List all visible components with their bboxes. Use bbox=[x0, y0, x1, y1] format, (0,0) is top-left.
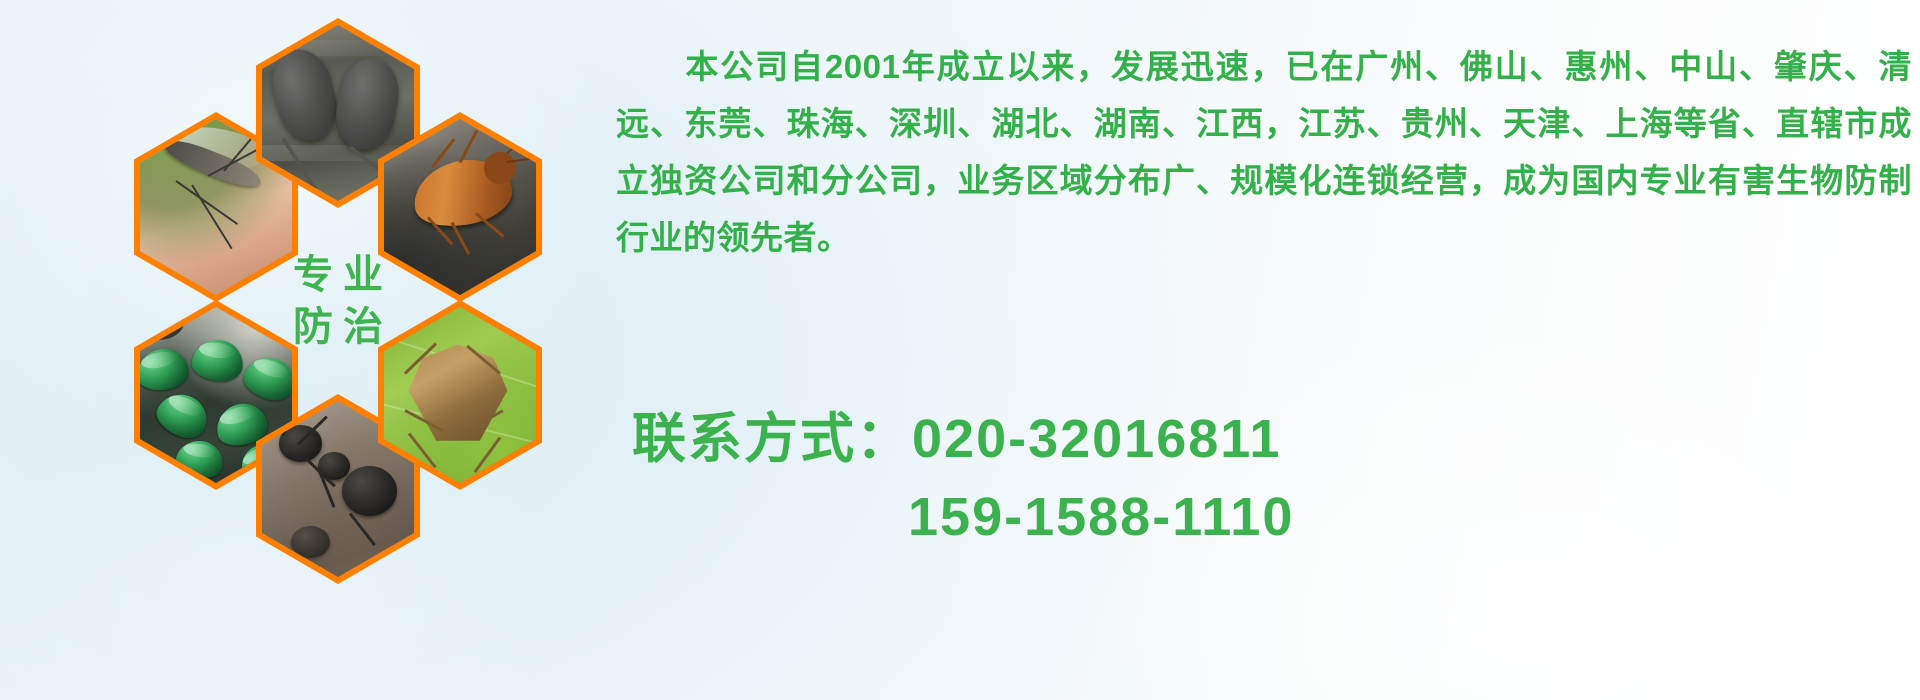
intro-line-1: 本公司自2001年成立以来，发展迅速，已在广州、佛山、惠州 bbox=[684, 48, 1634, 85]
contact-block: 联系方式：020-32016811 159-1588-1110 bbox=[616, 400, 1912, 556]
contact-mobile[interactable]: 159-1588-1110 bbox=[616, 478, 1912, 556]
center-label-line-2: 防治 bbox=[283, 307, 393, 347]
promo-banner: 专业 防治 本公司自2001年成立以来，发展迅速，已在广州、佛山、惠州、中山、肇… bbox=[0, 0, 1920, 700]
contact-landline[interactable]: 联系方式：020-32016811 bbox=[616, 400, 1912, 478]
hexagon-photo-collage: 专业 防治 bbox=[88, 18, 588, 578]
banner-content: 本公司自2001年成立以来，发展迅速，已在广州、佛山、惠州、中山、肇庆、清远、东… bbox=[600, 0, 1920, 700]
intro-line-5: 领先者。 bbox=[717, 219, 851, 256]
center-label-line-1: 专业 bbox=[283, 255, 393, 295]
collage-center-text: 专业 防治 bbox=[262, 213, 414, 389]
company-intro-paragraph: 本公司自2001年成立以来，发展迅速，已在广州、佛山、惠州、中山、肇庆、清远、东… bbox=[616, 38, 1912, 266]
